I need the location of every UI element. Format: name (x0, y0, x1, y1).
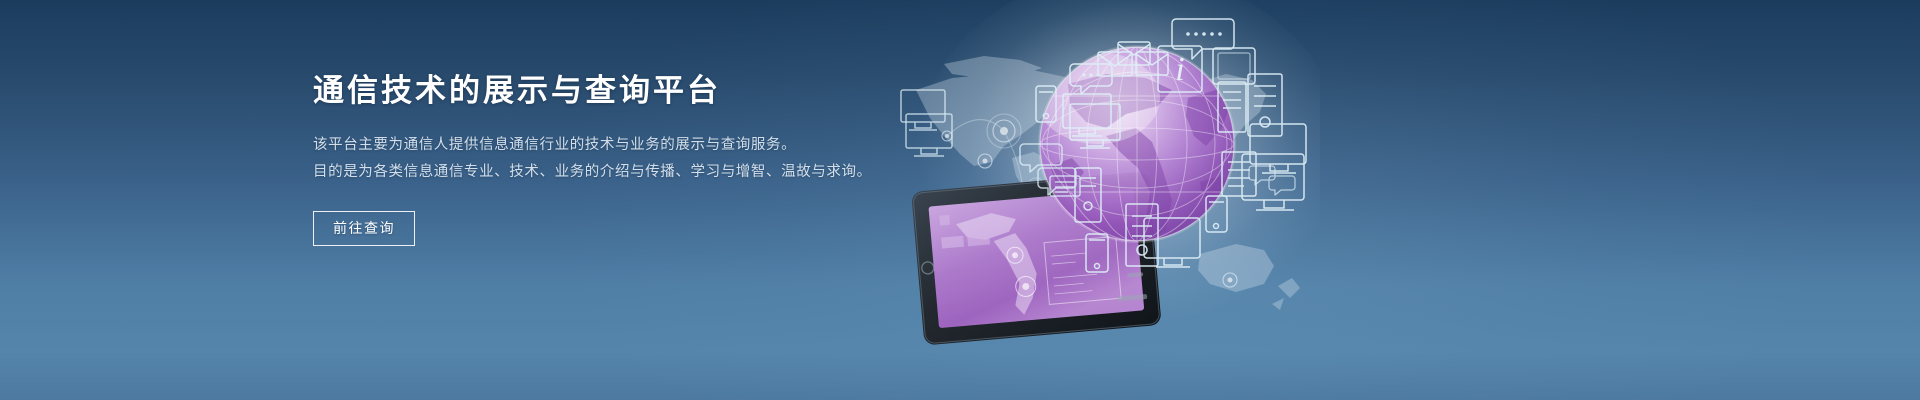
hero-content: 通信技术的展示与查询平台 该平台主要为通信人提供信息通信行业的技术与业务的展示与… (313, 74, 1013, 246)
hero-banner: i (0, 0, 1920, 400)
hero-description-line-2: 目的是为各类信息通信专业、技术、业务的介绍与传播、学习与增智、温故与求询。 (313, 160, 1013, 185)
hero-description-line-1: 该平台主要为通信人提供信息通信行业的技术与业务的展示与查询服务。 (313, 133, 1013, 158)
go-to-query-button[interactable]: 前往查询 (313, 211, 415, 246)
svg-text:i: i (1175, 51, 1184, 88)
hero-description: 该平台主要为通信人提供信息通信行业的技术与业务的展示与查询服务。 目的是为各类信… (313, 133, 1013, 185)
page-title: 通信技术的展示与查询平台 (313, 74, 1013, 108)
